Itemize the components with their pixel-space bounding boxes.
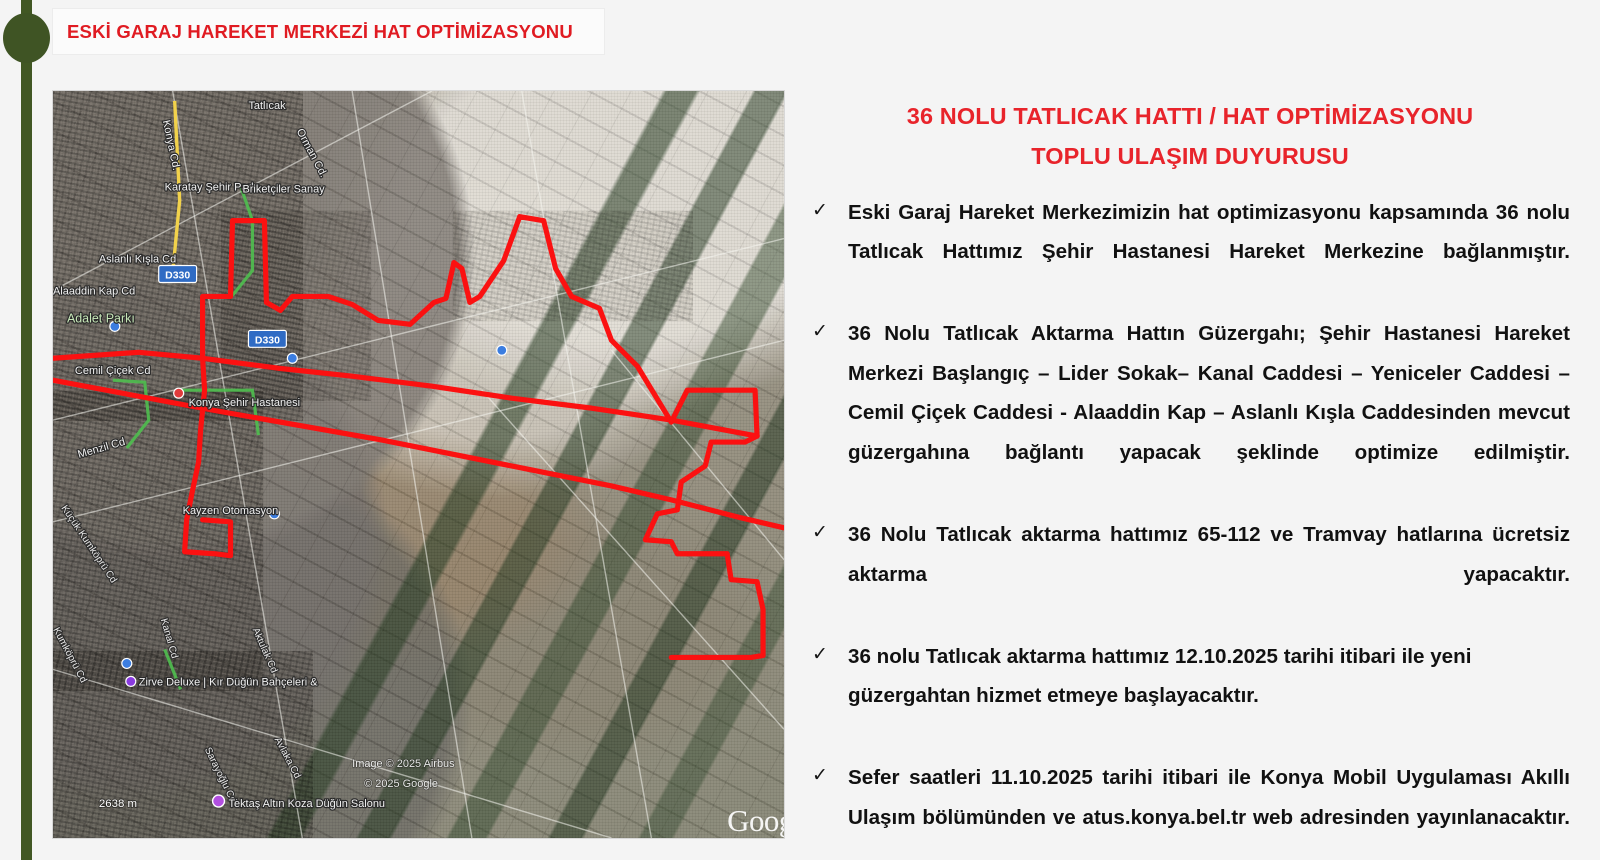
map-attribution-line2: © 2025 Google [364, 778, 438, 790]
map-label: Zirve Deluxe | Kır Düğün Bahçeleri & [139, 676, 318, 688]
map-label: Tektaş Altın Koza Düğün Salonu [229, 798, 385, 810]
map-panel[interactable]: D330 D330 Tatlıcak Orman Cd. Konya Cd. [52, 90, 785, 839]
svg-text:D330: D330 [255, 335, 280, 346]
check-icon: ✓ [810, 314, 848, 350]
map-label: Cemil Çiçek Cd [75, 365, 150, 377]
list-item: ✓ 36 Nolu Tatlıcak aktarma hattımız 65-1… [810, 515, 1570, 634]
check-icon: ✓ [810, 637, 848, 673]
list-item-text: 36 nolu Tatlıcak aktarma hattımız 12.10.… [848, 637, 1570, 756]
list-item: ✓ 36 Nolu Tatlıcak Aktarma Hattın Güzerg… [810, 314, 1570, 512]
map-attribution-line1: Image © 2025 Airbus [352, 758, 455, 770]
map-label: Aktulak Cd [250, 626, 280, 675]
accent-bar [21, 0, 32, 860]
google-watermark: Goog [727, 803, 784, 838]
map-label: Kayzen Otomasyon [183, 505, 279, 517]
map-label: Tatlıcak [248, 100, 286, 112]
announcement-title-line2: TOPLU ULAŞIM DUYURUSU [810, 136, 1570, 176]
map-label: Alaaddin Kap Cd [53, 285, 135, 297]
check-icon: ✓ [810, 515, 848, 551]
slide-root: ESKİ GARAJ HAREKET MERKEZİ HAT OPTİMİZAS… [0, 0, 1600, 860]
map-label: Kumköprü Cd [53, 626, 89, 685]
list-item-text: 36 Nolu Tatlıcak aktarma hattımız 65-112… [848, 515, 1570, 634]
list-item-text: Eski Garaj Hareket Merkezimizin hat opti… [848, 193, 1570, 312]
map-scale-label: 2638 m [99, 798, 137, 810]
map-label: Briketçiler Sanay [242, 184, 325, 196]
map-label: Kanal Cd [158, 617, 180, 659]
list-item-text: Sefer saatleri 11.10.2025 tarihi itibari… [848, 758, 1570, 860]
map-label: Konya Şehir Hastanesi [189, 397, 300, 409]
map-vector-overlay: D330 D330 Tatlıcak Orman Cd. Konya Cd. [53, 91, 784, 838]
svg-text:D330: D330 [165, 270, 190, 281]
poi-markers [110, 321, 507, 807]
header-title-chip: ESKİ GARAJ HAREKET MERKEZİ HAT OPTİMİZAS… [52, 8, 605, 55]
list-item: ✓ Sefer saatleri 11.10.2025 tarihi itiba… [810, 758, 1570, 860]
map-label: Adalet Parkı [67, 311, 135, 325]
announcement-title: 36 NOLU TATLICAK HATTI / HAT OPTİMİZASYO… [810, 96, 1570, 177]
list-item: ✓ Eski Garaj Hareket Merkezimizin hat op… [810, 193, 1570, 312]
list-item-text: 36 Nolu Tatlıcak Aktarma Hattın Güzergah… [848, 314, 1570, 512]
list-item: ✓ 36 nolu Tatlıcak aktarma hattımız 12.1… [810, 637, 1570, 756]
header-title-text: ESKİ GARAJ HAREKET MERKEZİ HAT OPTİMİZAS… [53, 21, 573, 43]
map-label: Menzil Cd [76, 436, 126, 461]
map-label: Avlaka Cd [272, 735, 303, 780]
map-label: Küçük Kumköprü Cd [58, 503, 118, 585]
accent-ellipse-icon [3, 13, 50, 63]
announcement-content: 36 NOLU TATLICAK HATTI / HAT OPTİMİZASYO… [810, 96, 1570, 860]
map-minor-roads [53, 91, 784, 838]
map-label: Orman Cd. [294, 127, 330, 180]
announcement-title-line1: 36 NOLU TATLICAK HATTI / HAT OPTİMİZASYO… [810, 96, 1570, 136]
check-icon: ✓ [810, 193, 848, 229]
road-shield-d330-b: D330 [248, 330, 286, 347]
announcement-bullet-list: ✓ Eski Garaj Hareket Merkezimizin hat op… [810, 193, 1570, 860]
map-label: Aslanlı Kışla Cd [99, 254, 176, 266]
road-shield-d330-a: D330 [159, 266, 197, 283]
check-icon: ✓ [810, 758, 848, 794]
